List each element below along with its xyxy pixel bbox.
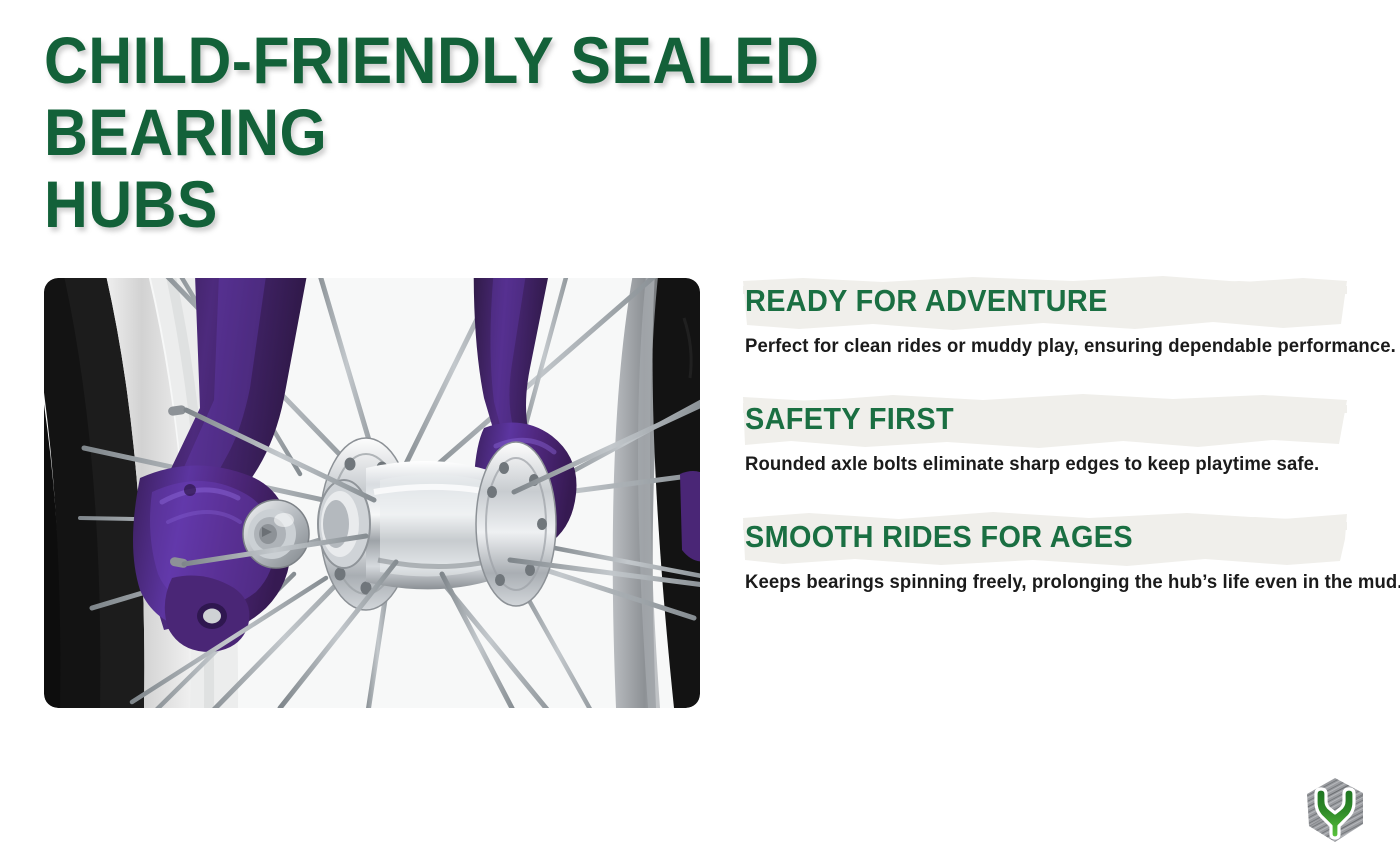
feature-body: Perfect for clean rides or muddy play, e… [745,334,1344,358]
feature-item: READY FOR ADVENTURE Perfect for clean ri… [745,282,1375,358]
y-hexagon-icon [1301,776,1369,846]
bicycle-hub-illustration [44,278,700,708]
feature-heading: SMOOTH RIDES FOR AGES [745,518,1331,556]
page-title: CHILD-FRIENDLY SEALED BEARING HUBS [44,24,1019,240]
feature-list: READY FOR ADVENTURE Perfect for clean ri… [745,282,1375,594]
feature-body: Keeps bearings spinning freely, prolongi… [745,570,1344,594]
feature-item: SMOOTH RIDES FOR AGES Keeps bearings spi… [745,518,1375,594]
feature-heading: SAFETY FIRST [745,400,1331,438]
feature-item: SAFETY FIRST Rounded axle bolts eliminat… [745,400,1375,476]
feature-heading: READY FOR ADVENTURE [745,282,1331,320]
feature-body: Rounded axle bolts eliminate sharp edges… [745,452,1344,476]
page-title-container: CHILD-FRIENDLY SEALED BEARING HUBS [44,24,1104,240]
brand-logo [1301,776,1369,846]
product-photo [44,278,700,708]
